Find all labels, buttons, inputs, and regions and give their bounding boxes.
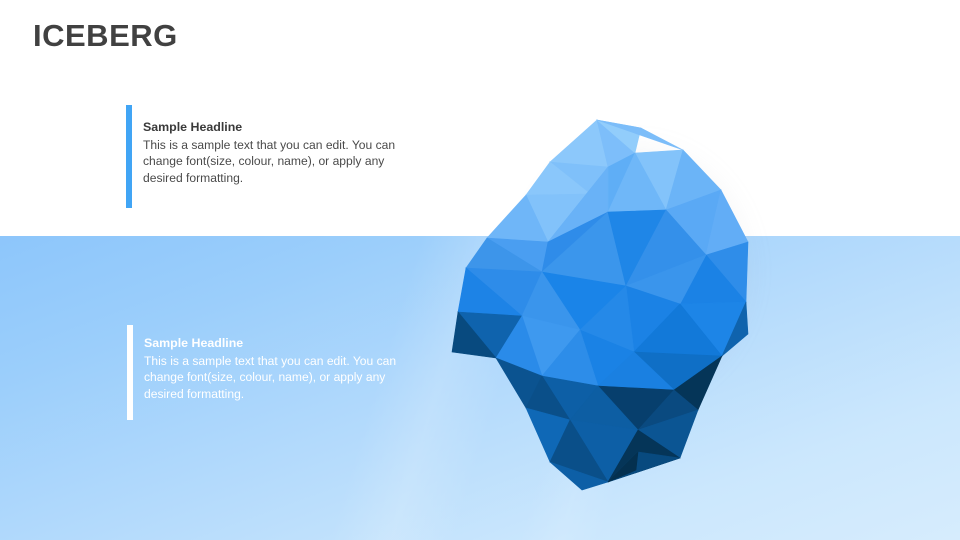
- text-body-above-water: Sample Headline This is a sample text th…: [143, 119, 418, 187]
- text-block-above-water: Sample Headline This is a sample text th…: [126, 105, 426, 208]
- accent-bar-above-water: [126, 105, 132, 208]
- iceberg-polygon-svg: [430, 90, 830, 510]
- paragraph-above-water: This is a sample text that you can edit.…: [143, 137, 418, 187]
- iceberg-illustration: [430, 90, 830, 490]
- headline-above-water: Sample Headline: [143, 119, 418, 136]
- text-block-below-water: Sample Headline This is a sample text th…: [127, 325, 427, 420]
- headline-below-water: Sample Headline: [144, 335, 419, 352]
- text-body-below-water: Sample Headline This is a sample text th…: [144, 335, 419, 403]
- page-title: ICEBERG: [33, 17, 178, 54]
- slide-canvas: ICEBERG Sample Headline This is a sample…: [0, 0, 960, 540]
- paragraph-below-water: This is a sample text that you can edit.…: [144, 353, 419, 403]
- accent-bar-below-water: [127, 325, 133, 420]
